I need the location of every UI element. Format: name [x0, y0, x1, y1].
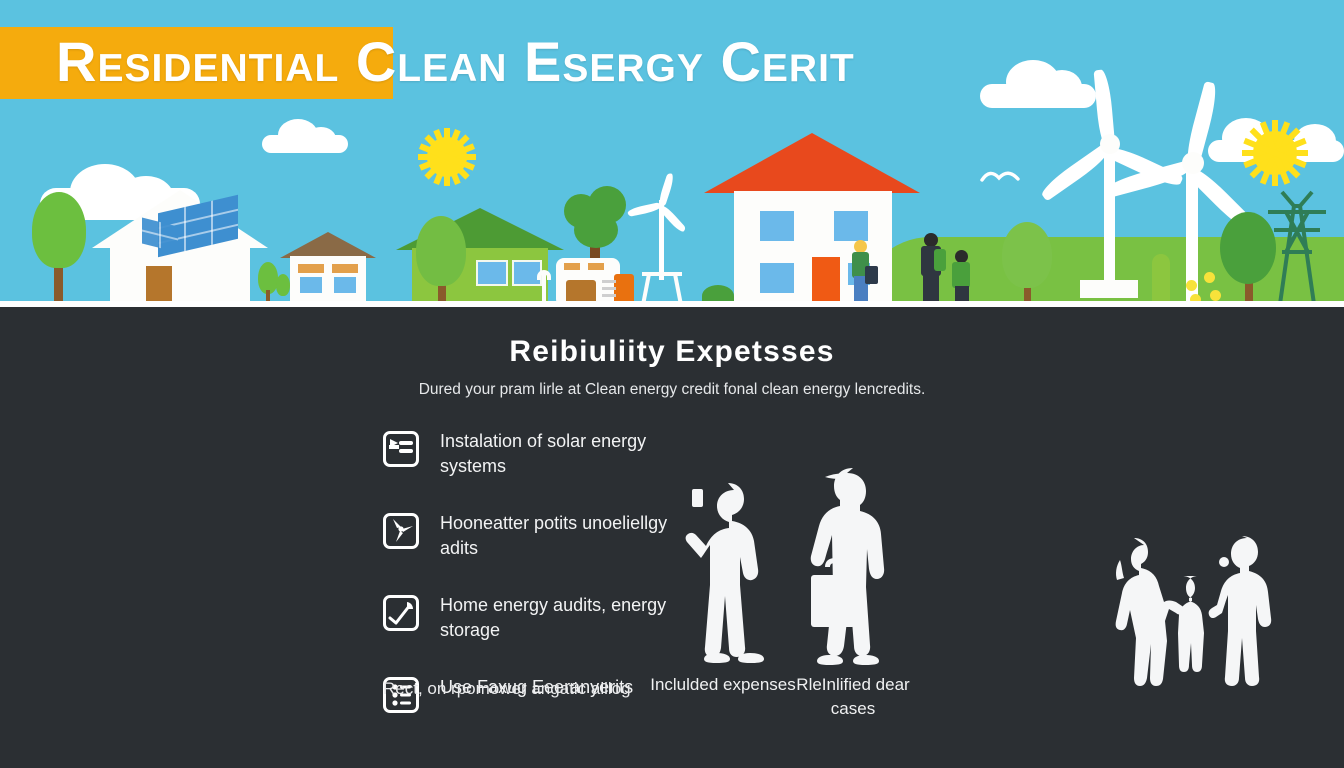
page-title: Residential Clean Esergy Cerit: [56, 26, 1296, 98]
solar-panel-icon: [383, 431, 419, 467]
small-house: [280, 232, 376, 307]
sun-icon: [418, 128, 476, 186]
family-group: [1098, 532, 1288, 692]
person-at-door: [848, 240, 874, 307]
energy-audit-icon: [383, 595, 419, 631]
section-subheading: Dured your pram lirle at Clean energy cr…: [0, 381, 1344, 399]
tree-on-green-house: [414, 216, 470, 307]
infographic-page: Residential Clean Esergy Cerit Reibiulii…: [0, 0, 1344, 768]
shrub: [1152, 254, 1170, 307]
section-heading: Reibiuliity Expetsses: [0, 335, 1344, 369]
details-section: Reibiuliity Expetsses Dured your pram li…: [0, 307, 1344, 768]
list-item[interactable]: Instalation of solar energy systems: [383, 429, 683, 481]
figure-caption-included-expenses: Inclulded expenses: [648, 673, 798, 697]
figure-caption-dear-cases: RleInlified dear cases: [778, 673, 928, 721]
tree-right-1: [1000, 222, 1054, 307]
white-house-solar: [100, 190, 260, 307]
orange-roof-house: [714, 133, 910, 307]
caption-text: RleInlified dear cases: [796, 675, 909, 718]
person-with-phone: [672, 475, 782, 667]
caption-text: Inclulded expenses: [650, 675, 796, 694]
bird-icon: [980, 168, 1020, 186]
cloud-icon: [262, 119, 348, 153]
hero-illustration: Residential Clean Esergy Cerit: [0, 0, 1344, 307]
person-with-briefcase: [795, 467, 905, 667]
bullet-list: Instalation of solar energy systems Hoon…: [383, 429, 683, 757]
person-child: [950, 250, 974, 307]
list-item-label: Home energy audits, energy storage: [440, 593, 683, 643]
closing-note: Rect, on rpomower angatic alllog: [383, 677, 683, 701]
list-item-label: Instalation of solar energy systems: [440, 429, 683, 479]
power-pylon-icon: [1264, 186, 1330, 307]
person-adult: [918, 233, 946, 307]
small-wind-turbine: [632, 172, 692, 307]
wind-turbine-icon: [383, 513, 419, 549]
list-item-label: Hooneatter potits unoeliellgy adits: [440, 511, 683, 561]
list-item[interactable]: Hooneatter potits unoeliellgy adits: [383, 511, 683, 563]
tree-left: [28, 192, 88, 307]
list-item[interactable]: Home energy audits, energy storage: [383, 593, 683, 645]
generator-unit: [556, 258, 634, 307]
house-door: [812, 257, 840, 307]
